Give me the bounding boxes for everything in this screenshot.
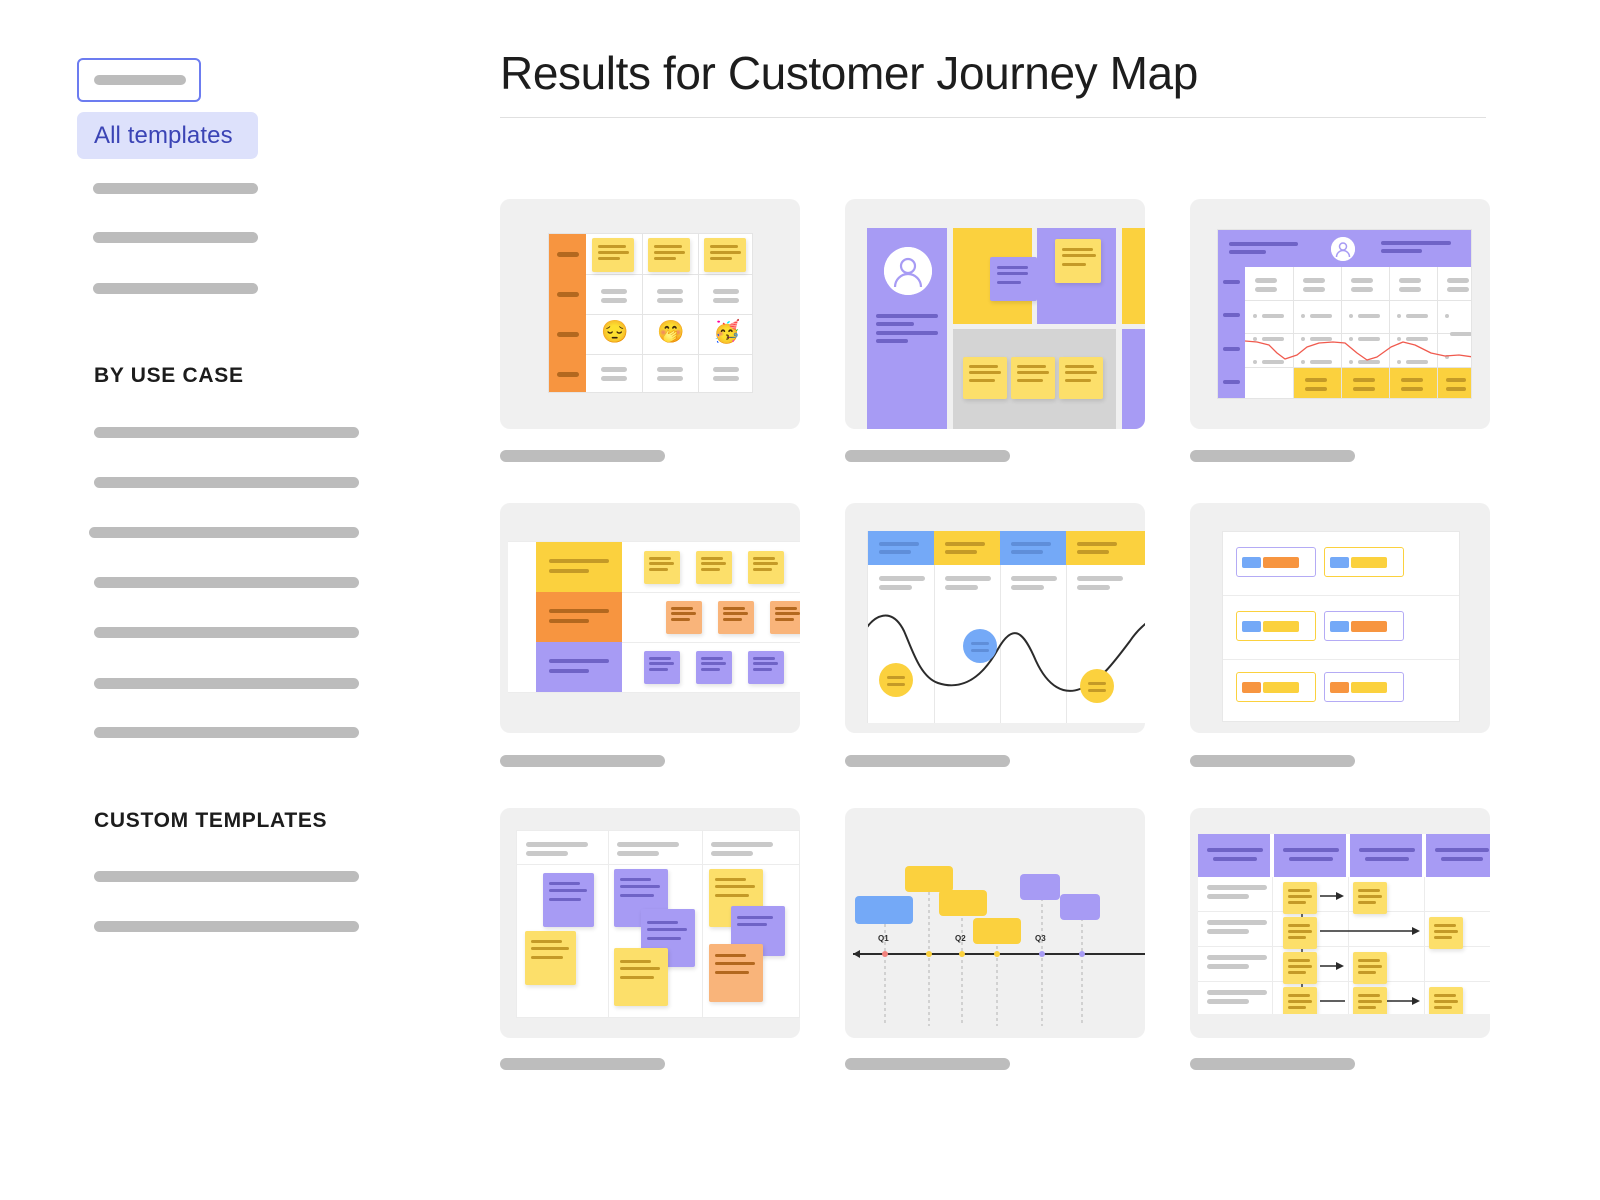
persona-gray-panel bbox=[953, 329, 1116, 429]
search-input[interactable] bbox=[77, 58, 201, 102]
flow-node bbox=[1353, 987, 1387, 1014]
flow-node bbox=[1429, 917, 1463, 949]
sidebar-item-placeholder-2[interactable] bbox=[93, 232, 258, 243]
template-card-emotion-curve[interactable] bbox=[845, 503, 1145, 733]
sidebar-item-placeholder-1[interactable] bbox=[93, 183, 258, 194]
template-card-quarter-timeline[interactable]: Q1 Q2 Q3 bbox=[845, 808, 1145, 1038]
axis-label-q3: Q3 bbox=[1035, 934, 1046, 943]
template-card-sticky-columns[interactable] bbox=[500, 808, 800, 1038]
emoji-thinking-icon: 🤭 bbox=[657, 321, 684, 343]
template-card-caption bbox=[845, 755, 1010, 767]
sidebar-section-title-by-use-case: BY USE CASE bbox=[94, 364, 244, 388]
table-header bbox=[1218, 230, 1472, 267]
sticky-note bbox=[648, 238, 690, 272]
template-card-persona-board[interactable] bbox=[845, 199, 1145, 429]
template-card-swimlane-notes[interactable] bbox=[500, 503, 800, 733]
card-1-stage-column bbox=[549, 234, 586, 393]
sidebar-item-custom-1[interactable] bbox=[94, 871, 359, 882]
sticky-note bbox=[770, 601, 800, 634]
sticky-note bbox=[543, 873, 594, 927]
card-5-board bbox=[867, 531, 1145, 723]
avatar bbox=[1331, 237, 1355, 261]
templates-search-page: All templates BY USE CASE CUSTOM TEMPLAT… bbox=[0, 0, 1600, 1200]
sidebar-section-title-custom-templates: CUSTOM TEMPLATES bbox=[94, 809, 327, 833]
sidebar-item-label: All templates bbox=[94, 122, 233, 150]
template-card-caption bbox=[1190, 450, 1355, 462]
persona-tile-yellow-clipped bbox=[1122, 228, 1145, 324]
template-card-caption bbox=[1190, 1058, 1355, 1070]
card-3-board bbox=[1217, 229, 1472, 399]
sticky-note bbox=[525, 931, 576, 985]
emoji-party-icon: 🥳 bbox=[713, 321, 740, 343]
sidebar-item-use-case-1[interactable] bbox=[94, 427, 359, 438]
sticky-note bbox=[644, 551, 680, 584]
card-4-board bbox=[508, 541, 800, 693]
flow-node bbox=[1283, 952, 1317, 984]
comparison-chip bbox=[1236, 611, 1316, 641]
search-placeholder-bar bbox=[94, 75, 186, 85]
flow-node bbox=[1353, 882, 1387, 914]
sticky-note bbox=[704, 238, 746, 272]
emotion-line-chart bbox=[1245, 333, 1472, 367]
comparison-chip bbox=[1324, 672, 1404, 702]
lane-label-yellow bbox=[536, 542, 622, 592]
template-card-comparison-bars[interactable] bbox=[1190, 503, 1490, 733]
lane-label-purple bbox=[536, 642, 622, 692]
avatar bbox=[884, 247, 932, 295]
card-7-board bbox=[516, 830, 800, 1018]
sidebar-item-all-templates[interactable]: All templates bbox=[77, 112, 258, 159]
sticky-note bbox=[748, 651, 784, 684]
matrix-header bbox=[1350, 834, 1424, 877]
curve-node-yellow bbox=[879, 663, 913, 697]
template-card-caption bbox=[500, 450, 665, 462]
card-2-board bbox=[845, 199, 1145, 429]
highlight-cell bbox=[1438, 368, 1472, 399]
sidebar-item-use-case-7[interactable] bbox=[94, 727, 359, 738]
table-stage-column bbox=[1218, 267, 1245, 399]
sticky-note bbox=[709, 944, 763, 1002]
flow-node bbox=[1283, 987, 1317, 1014]
flow-node bbox=[1283, 917, 1317, 949]
template-card-journey-table-chart[interactable] bbox=[1190, 199, 1490, 429]
flow-node bbox=[1429, 987, 1463, 1014]
card-6-board bbox=[1222, 531, 1460, 722]
comparison-chip bbox=[1324, 611, 1404, 641]
sidebar-item-use-case-3[interactable] bbox=[89, 527, 359, 538]
sticky-note bbox=[1055, 239, 1101, 283]
persona-panel bbox=[867, 228, 947, 429]
column-header-blue bbox=[1000, 531, 1066, 565]
flow-node bbox=[1353, 952, 1387, 984]
user-icon bbox=[1331, 237, 1355, 261]
template-card-flow-matrix[interactable] bbox=[1190, 808, 1490, 1038]
axis-label-q2: Q2 bbox=[955, 934, 966, 943]
matrix-header bbox=[1198, 834, 1272, 877]
curve-node-blue bbox=[963, 629, 997, 663]
sidebar-item-use-case-2[interactable] bbox=[94, 477, 359, 488]
template-card-caption bbox=[845, 1058, 1010, 1070]
template-card-caption bbox=[500, 755, 665, 767]
template-card-emoji-journey-grid[interactable]: 😔 🤭 🥳 bbox=[500, 199, 800, 429]
sticky-note bbox=[718, 601, 754, 634]
main-content: Results for Customer Journey Map bbox=[470, 0, 1600, 1200]
template-card-caption bbox=[500, 1058, 665, 1070]
sticky-note bbox=[748, 551, 784, 584]
axis-label-q1: Q1 bbox=[878, 934, 889, 943]
sidebar-item-use-case-4[interactable] bbox=[94, 577, 359, 588]
user-icon bbox=[884, 247, 932, 295]
sticky-note bbox=[696, 651, 732, 684]
flow-node bbox=[1283, 882, 1317, 914]
sidebar-item-placeholder-3[interactable] bbox=[93, 283, 258, 294]
persona-tile-yellow bbox=[953, 228, 1032, 324]
sticky-note bbox=[1059, 357, 1103, 399]
lane-label-orange bbox=[536, 592, 622, 642]
sticky-note bbox=[666, 601, 702, 634]
column-header-blue bbox=[868, 531, 934, 565]
persona-tile-purple-clipped bbox=[1122, 329, 1145, 429]
sidebar-item-use-case-5[interactable] bbox=[94, 627, 359, 638]
column-header-yellow bbox=[1066, 531, 1145, 565]
highlight-cell bbox=[1390, 368, 1437, 399]
sticky-note bbox=[614, 948, 668, 1006]
template-card-caption bbox=[845, 450, 1010, 462]
sidebar-item-use-case-6[interactable] bbox=[94, 678, 359, 689]
highlight-cell bbox=[1294, 368, 1341, 399]
sticky-note bbox=[644, 651, 680, 684]
card-1-board: 😔 🤭 🥳 bbox=[548, 233, 753, 393]
comparison-chip bbox=[1236, 672, 1316, 702]
highlight-cell bbox=[1342, 368, 1389, 399]
comparison-chip bbox=[1324, 547, 1404, 577]
comparison-chip bbox=[1236, 547, 1316, 577]
emoji-sad-icon: 😔 bbox=[601, 321, 628, 343]
timeline-chart bbox=[845, 808, 1145, 1038]
sidebar-item-custom-2[interactable] bbox=[94, 921, 359, 932]
column-header-yellow bbox=[934, 531, 1000, 565]
template-card-caption bbox=[1190, 755, 1355, 767]
sticky-note bbox=[963, 357, 1007, 399]
persona-tile-purple bbox=[1037, 228, 1116, 324]
curve-node-yellow bbox=[1080, 669, 1114, 703]
sticky-note bbox=[696, 551, 732, 584]
matrix-header bbox=[1426, 834, 1490, 877]
sticky-note bbox=[592, 238, 634, 272]
title-divider bbox=[500, 117, 1486, 118]
matrix-header bbox=[1274, 834, 1348, 877]
sidebar: All templates BY USE CASE CUSTOM TEMPLAT… bbox=[0, 0, 470, 1200]
card-9-board bbox=[1198, 834, 1490, 1014]
sticky-note bbox=[990, 257, 1037, 301]
page-title: Results for Customer Journey Map bbox=[500, 46, 1198, 100]
sticky-note bbox=[1011, 357, 1055, 399]
